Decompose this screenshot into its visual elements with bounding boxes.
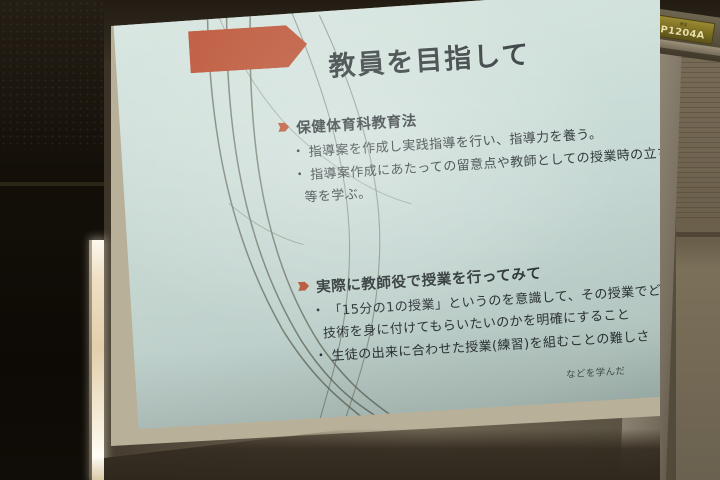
dot-bullet-icon: ・ — [311, 302, 325, 321]
slide-title: 教員を目指して — [327, 32, 531, 83]
right-wall-seam — [676, 232, 720, 237]
slide-tail-note: などを学んだ — [566, 363, 626, 381]
slide-surface: 教員を目指して 保健体育科教育法 ・ 指導案を作成し実践指導を行い、指導力を養う… — [112, 0, 660, 429]
chevron-banner-icon — [188, 24, 308, 73]
dot-bullet-icon: ・ — [314, 347, 328, 366]
vertical-wall-light — [92, 240, 104, 480]
room-sign-p-sub: 教室 — [680, 22, 688, 28]
arrow-bullet-icon — [278, 122, 290, 132]
photo-scene: 教室 W1204A 教室 P1204A — [0, 0, 720, 480]
left-wall-trim — [0, 182, 104, 186]
right-wall-blinds — [676, 52, 720, 222]
dot-bullet-icon: ・ — [293, 166, 307, 185]
left-wall-texture — [0, 0, 104, 150]
dot-bullet-icon: ・ — [291, 143, 305, 162]
slide-block-1: 保健体育科教育法 ・ 指導案を作成し実践指導を行い、指導力を養う。 ・ 指導案作… — [278, 92, 660, 213]
slide-block-2: 実際に教師役で授業を行ってみて ・ 「15分の1の授業」というのを意識して、その… — [298, 251, 660, 371]
slide-block-1-heading: 保健体育科教育法 — [296, 109, 418, 137]
arrow-bullet-icon — [298, 281, 310, 291]
projection-screen: 教員を目指して 保健体育科教育法 ・ 指導案を作成し実践指導を行い、指導力を養う… — [104, 0, 660, 458]
